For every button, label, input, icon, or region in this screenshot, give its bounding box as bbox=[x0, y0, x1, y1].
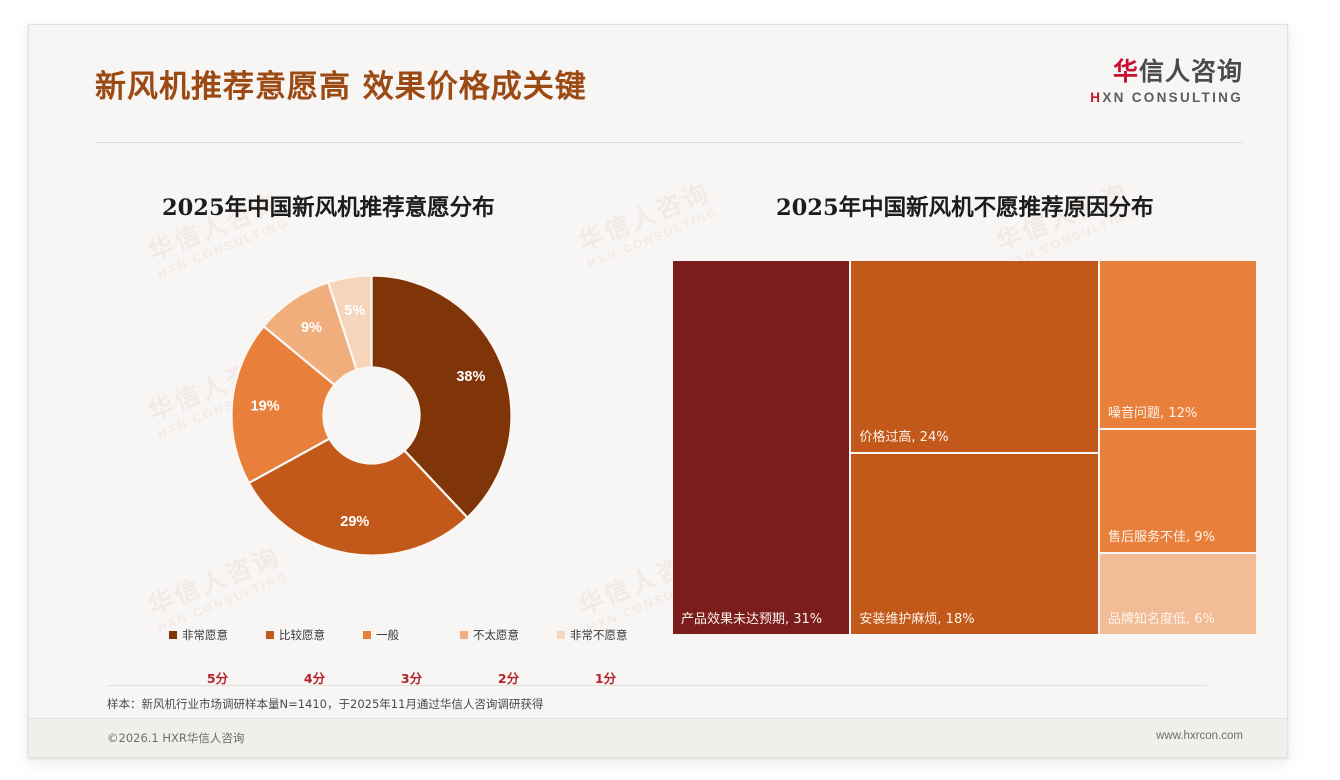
donut-svg: 38%29%19%9%5% bbox=[229, 273, 514, 558]
left-chart-title: 2025年中国新风机推荐意愿分布 bbox=[162, 190, 495, 222]
legend-item[interactable]: 不太愿意 bbox=[460, 627, 557, 643]
legend-swatch-icon bbox=[557, 631, 565, 639]
logo-en-accent: H bbox=[1090, 90, 1102, 105]
reasons-treemap-chart: 产品效果未达预期, 31%安装维护麻烦, 18%价格过高, 24%噪音问题, 1… bbox=[672, 260, 1257, 635]
treemap-cell[interactable]: 噪音问题, 12% bbox=[1099, 260, 1257, 429]
recommendation-donut-chart: 38%29%19%9%5% bbox=[229, 273, 514, 558]
slide-header: 新风机推荐意愿高 效果价格成关键 华信人咨询 HXN CONSULTING bbox=[29, 25, 1287, 119]
legend-item[interactable]: 非常不愿意 bbox=[557, 627, 654, 643]
logo-en-rest: XN CONSULTING bbox=[1102, 90, 1243, 105]
footer-website[interactable]: www.hxrcon.com bbox=[1156, 730, 1243, 742]
right-chart-title: 2025年中国新风机不愿推荐原因分布 bbox=[776, 190, 1154, 222]
page-title: 新风机推荐意愿高 效果价格成关键 bbox=[95, 61, 587, 106]
treemap-cell[interactable]: 安装维护麻烦, 18% bbox=[850, 453, 1099, 635]
footer-copyright: ©2026.1 HXR华信人咨询 bbox=[107, 730, 244, 746]
logo-cn-rest: 信人咨询 bbox=[1139, 57, 1243, 86]
donut-slice-label: 38% bbox=[456, 369, 485, 385]
donut-legend: 非常愿意比较愿意一般不太愿意非常不愿意 bbox=[169, 627, 664, 643]
legend-swatch-icon bbox=[169, 631, 177, 639]
treemap-cell-label: 品牌知名度低, 6% bbox=[1108, 608, 1215, 627]
legend-label: 非常不愿意 bbox=[570, 627, 628, 643]
legend-swatch-icon bbox=[266, 631, 274, 639]
treemap-cell[interactable]: 产品效果未达预期, 31% bbox=[672, 260, 850, 635]
slide-footer: ©2026.1 HXR华信人咨询 www.hxrcon.com bbox=[29, 718, 1287, 757]
slide-canvas: 华信人咨询 HXN CONSULTING 华信人咨询 HXN CONSULTIN… bbox=[28, 24, 1288, 758]
legend-swatch-icon bbox=[460, 631, 468, 639]
sample-footnote: 样本：新风机行业市场调研样本量N=1410，于2025年11月通过华信人咨询调研… bbox=[107, 685, 1207, 712]
donut-slices bbox=[232, 276, 512, 556]
header-divider bbox=[95, 142, 1243, 143]
legend-label: 不太愿意 bbox=[473, 627, 519, 643]
treemap-cell-label: 噪音问题, 12% bbox=[1108, 402, 1197, 421]
donut-slice-label: 19% bbox=[251, 398, 280, 414]
legend-label: 一般 bbox=[376, 627, 399, 643]
treemap-cell-label: 价格过高, 24% bbox=[859, 426, 948, 445]
legend-label: 非常愿意 bbox=[182, 627, 228, 643]
donut-slice-label: 29% bbox=[340, 514, 369, 530]
legend-label: 比较愿意 bbox=[279, 627, 325, 643]
donut-slice-label: 9% bbox=[301, 320, 322, 336]
treemap-cell-label: 售后服务不佳, 9% bbox=[1108, 526, 1215, 545]
treemap-cell-label: 安装维护麻烦, 18% bbox=[859, 608, 974, 627]
treemap-cell[interactable]: 价格过高, 24% bbox=[850, 260, 1099, 453]
logo-text-cn: 华信人咨询 bbox=[1090, 59, 1243, 84]
logo-text-en: HXN CONSULTING bbox=[1090, 90, 1243, 105]
treemap-cell-label: 产品效果未达预期, 31% bbox=[681, 608, 822, 627]
watermark-en: HXN CONSULTING bbox=[155, 569, 291, 636]
watermark-en: HXN CONSULTING bbox=[155, 215, 291, 282]
watermark-cn: 华信人咨询 bbox=[573, 176, 715, 258]
brand-logo: 华信人咨询 HXN CONSULTING bbox=[1090, 59, 1243, 105]
watermark: 华信人咨询 HXN CONSULTING bbox=[573, 176, 721, 272]
legend-item[interactable]: 比较愿意 bbox=[266, 627, 363, 643]
logo-cn-accent: 华 bbox=[1113, 57, 1139, 86]
legend-item[interactable]: 非常愿意 bbox=[169, 627, 266, 643]
legend-item[interactable]: 一般 bbox=[363, 627, 460, 643]
legend-swatch-icon bbox=[363, 631, 371, 639]
donut-slice-label: 5% bbox=[344, 303, 365, 319]
treemap-cell[interactable]: 售后服务不佳, 9% bbox=[1099, 429, 1257, 553]
treemap-cell[interactable]: 品牌知名度低, 6% bbox=[1099, 553, 1257, 636]
